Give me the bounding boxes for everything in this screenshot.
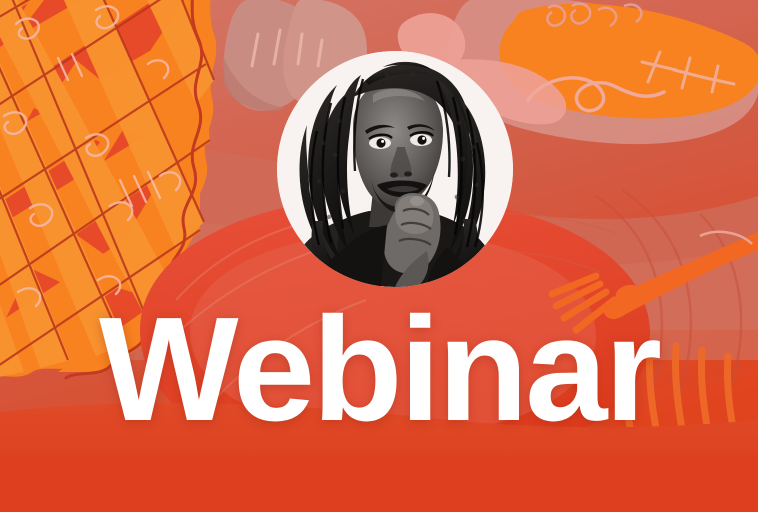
page-title: Webinar [0, 296, 758, 444]
speaker-portrait [277, 51, 513, 287]
webinar-banner: Webinar [0, 0, 758, 512]
